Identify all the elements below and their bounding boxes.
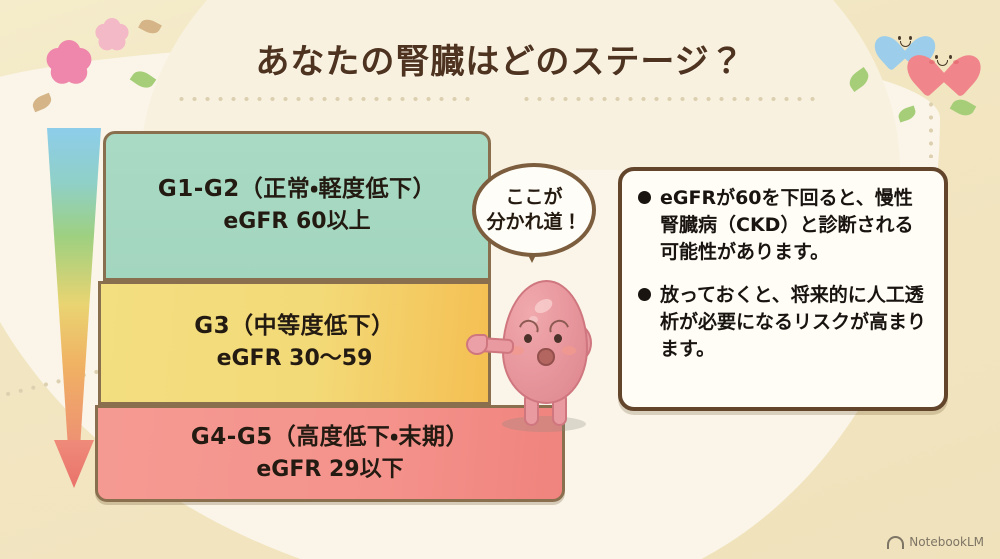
info-bullet-item: 放っておくと、将来的に人工透析が必要になるリスクが高まります。 [636,282,928,363]
page-title: あなたの腎臓はどのステージ？ [0,34,1000,83]
stage-band-g1-g2[interactable]: G1-G2（正常・軽度低下） eGFR 60以上 [103,131,491,281]
info-bullet-text: 放っておくと、将来的に人工透析が必要になるリスクが高まります。 [660,282,928,363]
watermark: NotebookLM [887,535,984,549]
mascot-cheek-right [562,346,576,355]
stage-label: G4-G5（高度低下・末期） [191,423,469,452]
info-bullet-item: eGFRが60を下回ると、慢性腎臓病（CKD）と診断される可能性があります。 [636,185,928,266]
bullet-dot-icon [638,288,651,301]
dotted-divider-left [175,96,475,102]
watermark-label: NotebookLM [909,535,984,549]
stage-band-g3[interactable]: G3（中等度低下） eGFR 30〜59 [98,281,491,405]
stage-label: G3（中等度低下） [194,312,394,341]
mascot-pointing-hand-icon [466,334,488,355]
notebooklm-logo-icon [887,536,904,549]
kidney-mascot [488,272,600,440]
mascot-body [502,280,588,404]
bullet-dot-icon [638,191,651,204]
leaf-icon-green-3 [950,96,977,120]
severity-arrow-head-icon [54,440,94,488]
stage-value: eGFR 30〜59 [217,345,373,374]
severity-arrow-shaft [44,128,104,448]
info-bullet-text: eGFRが60を下回ると、慢性腎臓病（CKD）と診断される可能性があります。 [660,185,928,266]
infographic-canvas: あなたの腎臓はどのステージ？ G1-G2（正常・軽度低下） eGFR 60以上 … [0,0,1000,559]
dotted-divider-right [520,96,820,102]
speech-bubble-line1: ここが [505,185,562,210]
stage-label: G1-G2（正常・軽度低下） [158,175,436,204]
mascot-highlight-1 [532,296,554,316]
mascot-eye-left [524,334,532,343]
stage-value: eGFR 29以下 [256,456,403,485]
speech-bubble-line2: 分かれ道！ [486,210,581,235]
stage-value: eGFR 60以上 [223,208,370,237]
dotted-divider-corner [928,98,934,158]
mascot-eye-right [554,334,562,343]
mascot-shadow [502,416,586,432]
speech-bubble: ここが 分かれ道！ [472,163,596,257]
mascot-mouth [537,348,555,366]
info-card: eGFRが60を下回ると、慢性腎臓病（CKD）と診断される可能性があります。 放… [618,167,948,411]
